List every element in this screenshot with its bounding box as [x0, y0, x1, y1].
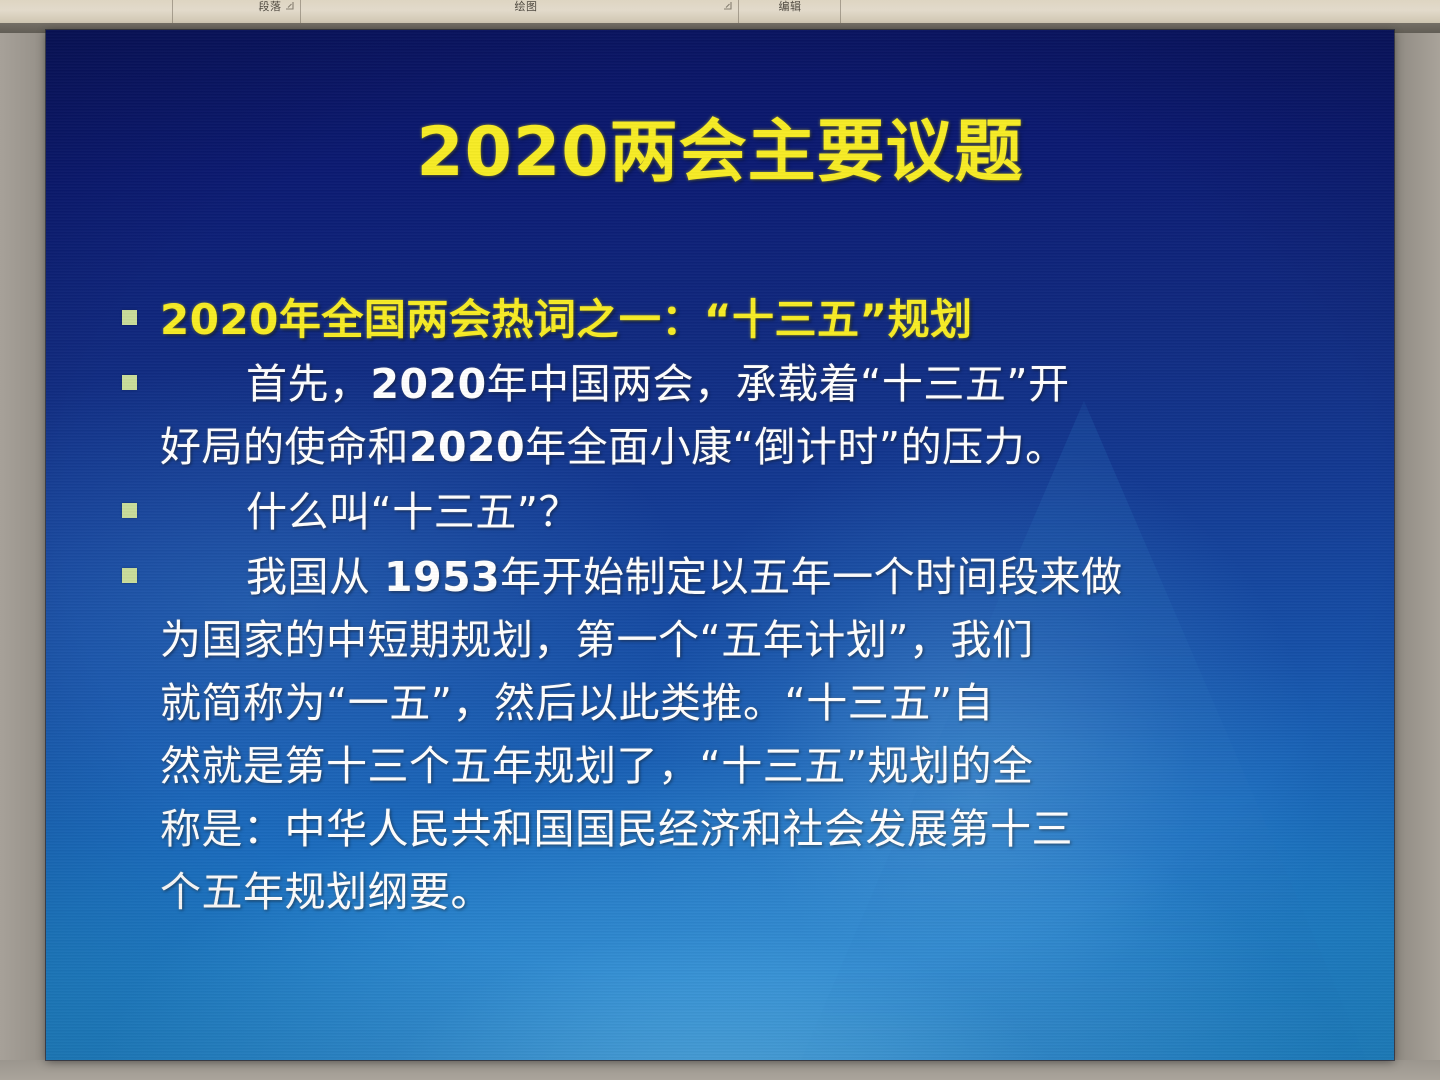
ribbon-group-editing-label: 编辑: [779, 0, 802, 14]
paragraph-dialog-launcher-icon[interactable]: [286, 2, 295, 11]
slide-title: 2020两会主要议题: [46, 112, 1394, 194]
bullet-line: 什么叫“十三五”？: [160, 481, 1358, 544]
slide-body: 2020年全国两会热词之一：“十三五”规划 首先，2020年中国两会，承载着“十…: [108, 288, 1358, 926]
bullet-line: 就简称为“一五”，然后以此类推。“十三五”自: [160, 672, 1358, 735]
ribbon-group-drawing[interactable]: 绘图: [316, 0, 736, 23]
bullet-line: 我国从 1953年开始制定以五年一个时间段来做: [160, 546, 1358, 609]
bullet-item: 2020年全国两会热词之一：“十三五”规划: [108, 288, 1358, 351]
ribbon-separator: [172, 0, 173, 23]
monitor-bezel-left: [0, 33, 46, 1080]
bullet-line: 为国家的中短期规划，第一个“五年计划”，我们: [160, 609, 1358, 672]
bullet-line: 然就是第十三个五年规划了，“十三五”规划的全: [160, 735, 1358, 798]
bullet-line: 好局的使命和2020年全面小康“倒计时”的压力。: [160, 416, 1358, 479]
monitor-bezel-right: [1394, 33, 1440, 1080]
bullet-item: 首先，2020年中国两会，承载着“十三五”开 好局的使命和2020年全面小康“倒…: [108, 353, 1358, 479]
bullet-item: 什么叫“十三五”？: [108, 481, 1358, 544]
ribbon-separator: [300, 0, 301, 23]
ribbon-group-editing[interactable]: 编辑: [700, 0, 880, 23]
powerpoint-ribbon: 段落 绘图 编辑: [0, 0, 1440, 23]
bullet-line: 个五年规划纲要。: [160, 861, 1358, 924]
ribbon-group-drawing-label: 绘图: [515, 0, 538, 14]
photographed-screen: 段落 绘图 编辑 2020两会主要议题 2: [0, 0, 1440, 1080]
presentation-slide[interactable]: 2020两会主要议题 2020年全国两会热词之一：“十三五”规划 首先，2020…: [46, 30, 1394, 1060]
monitor-bezel-bottom: [0, 1060, 1440, 1080]
bullet-line: 2020年全国两会热词之一：“十三五”规划: [160, 288, 1358, 351]
bullet-square-icon: [122, 310, 137, 325]
bullet-square-icon: [122, 375, 137, 390]
bullet-square-icon: [122, 568, 137, 583]
ribbon-separator: [840, 0, 841, 23]
bullet-square-icon: [122, 503, 137, 518]
bullet-line: 首先，2020年中国两会，承载着“十三五”开: [160, 353, 1358, 416]
bullet-line: 称是：中华人民共和国国民经济和社会发展第十三: [160, 798, 1358, 861]
bullet-item: 我国从 1953年开始制定以五年一个时间段来做 为国家的中短期规划，第一个“五年…: [108, 546, 1358, 924]
ribbon-group-paragraph-label: 段落: [259, 0, 282, 14]
ribbon-separator: [738, 0, 739, 23]
